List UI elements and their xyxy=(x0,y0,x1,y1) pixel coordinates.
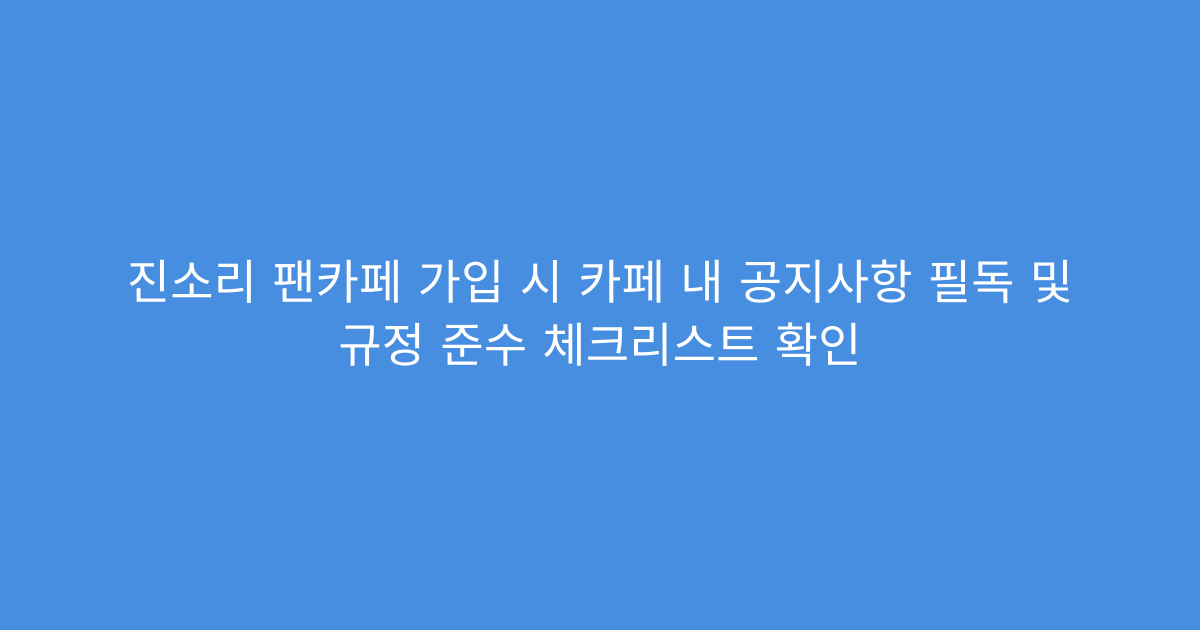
page-title-line-1: 진소리 팬카페 가입 시 카페 내 공지사항 필독 및 xyxy=(90,252,1110,315)
og-card-canvas: 진소리 팬카페 가입 시 카페 내 공지사항 필독 및 규정 준수 체크리스트 … xyxy=(0,0,1200,630)
page-title: 진소리 팬카페 가입 시 카페 내 공지사항 필독 및 규정 준수 체크리스트 … xyxy=(70,252,1130,378)
page-title-line-2: 규정 준수 체크리스트 확인 xyxy=(90,315,1110,378)
